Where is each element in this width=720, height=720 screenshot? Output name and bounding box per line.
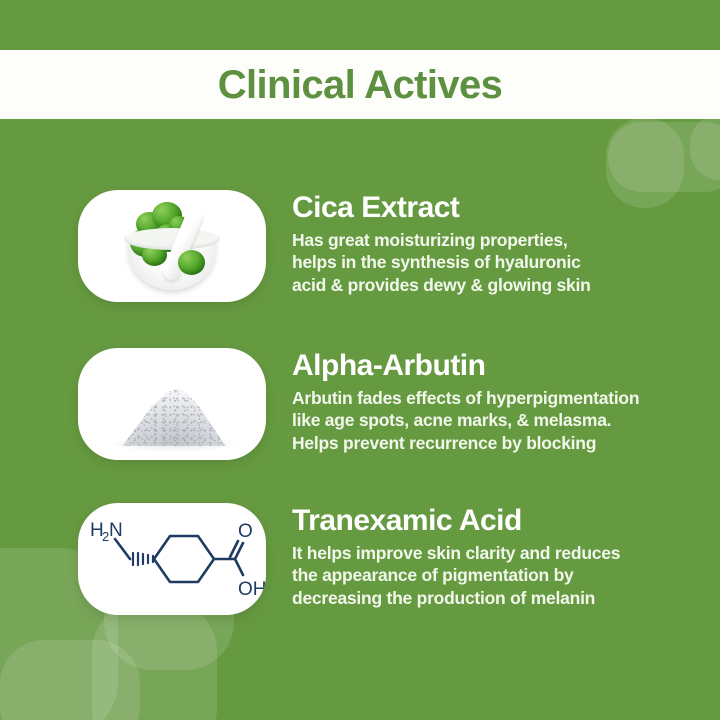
ingredient-row-cica-extract: Cica Extract Has great moisturizing prop…: [0, 190, 720, 302]
description-line: Arbutin fades effects of hyperpigmentati…: [292, 387, 708, 409]
ingredient-copy: Alpha-Arbutin Arbutin fades effects of h…: [292, 348, 708, 454]
infographic-canvas: Clinical Actives Cica Extract Has great …: [0, 0, 720, 720]
powder-texture-overlay: [118, 384, 230, 446]
description-line: helps in the synthesis of hyaluronic: [292, 251, 708, 273]
header-banner: Clinical Actives: [0, 50, 720, 119]
ingredient-name: Cica Extract: [292, 192, 708, 224]
decorative-blob-bottom-left-b: [92, 600, 217, 720]
ingredient-name: Alpha-Arbutin: [292, 350, 708, 382]
description-line: It helps improve skin clarity and reduce…: [292, 542, 708, 564]
description-line: Helps prevent recurrence by blocking: [292, 432, 708, 454]
decorative-blob-top-right-c: [690, 114, 720, 180]
ingredient-description: Arbutin fades effects of hyperpigmentati…: [292, 387, 708, 454]
ingredient-row-tranexamic-acid: H 2 N O OH Tranexamic Acid It helps impr…: [0, 503, 720, 615]
ingredient-description: Has great moisturizing properties, helps…: [292, 229, 708, 296]
ingredient-description: It helps improve skin clarity and reduce…: [292, 542, 708, 609]
formula-label-carbonyl-oxygen: O: [238, 521, 253, 542]
formula-label-amine-n: N: [109, 520, 123, 541]
decorative-blob-top-right-a: [608, 122, 720, 192]
description-line: like age spots, acne marks, & melasma.: [292, 409, 708, 431]
ingredient-copy: Tranexamic Acid It helps improve skin cl…: [292, 503, 708, 609]
ingredient-name: Tranexamic Acid: [292, 505, 708, 537]
centella-leaf-icon: [178, 250, 205, 275]
ingredient-copy: Cica Extract Has great moisturizing prop…: [292, 190, 708, 296]
description-line: the appearance of pigmentation by: [292, 564, 708, 586]
mortar-pestle-centella-leaves-image: [78, 190, 266, 302]
description-line: decreasing the production of melanin: [292, 587, 708, 609]
decorative-blob-bottom-left-d: [0, 640, 140, 720]
description-line: Has great moisturizing properties,: [292, 229, 708, 251]
ingredient-row-alpha-arbutin: Alpha-Arbutin Arbutin fades effects of h…: [0, 348, 720, 460]
white-powder-mound-image: [78, 348, 266, 460]
tranexamic-acid-structure-image: H 2 N O OH: [78, 503, 266, 615]
description-line: acid & provides dewy & glowing skin: [292, 274, 708, 296]
page-title: Clinical Actives: [218, 65, 503, 105]
chemical-structure-diagram: H 2 N O OH: [78, 503, 266, 615]
formula-label-hydroxyl: OH: [238, 579, 266, 600]
